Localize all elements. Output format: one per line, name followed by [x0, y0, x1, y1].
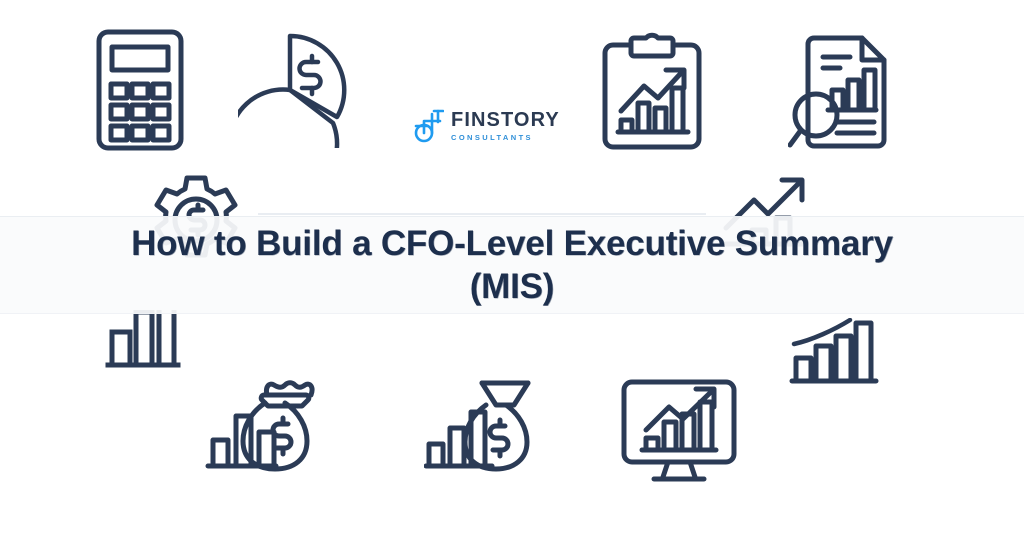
- page-title-line-1: How to Build a CFO-Level Executive Summa…: [131, 224, 893, 263]
- page-title-line-2: (MIS): [470, 267, 555, 306]
- poster-canvas: FINSTORY CONSULTANTS How to Build a CFO-…: [0, 0, 1024, 536]
- bar-chart-small-icon: [104, 310, 182, 372]
- brand-logo: FINSTORY CONSULTANTS: [414, 100, 544, 152]
- brand-logo-text: FINSTORY CONSULTANTS: [451, 108, 560, 144]
- header-divider: [258, 213, 706, 215]
- money-bag-growth-icon: [424, 378, 536, 474]
- monitor-chart-icon: [620, 378, 738, 488]
- clipboard-chart-icon: [600, 32, 704, 152]
- bar-chart-trend-icon: [788, 318, 880, 388]
- title-band: How to Build a CFO-Level Executive Summa…: [0, 216, 1024, 314]
- document-magnifier-icon: [788, 32, 898, 152]
- brand-tagline: CONSULTANTS: [451, 132, 560, 144]
- calculator-icon: [95, 28, 185, 152]
- pie-chart-dollar-icon: [238, 32, 350, 148]
- money-bag-bars-icon: [204, 378, 324, 476]
- brand-name: FINSTORY: [451, 110, 560, 131]
- finstory-logo-mark: [414, 108, 444, 144]
- page-title: How to Build a CFO-Level Executive Summa…: [0, 222, 1024, 308]
